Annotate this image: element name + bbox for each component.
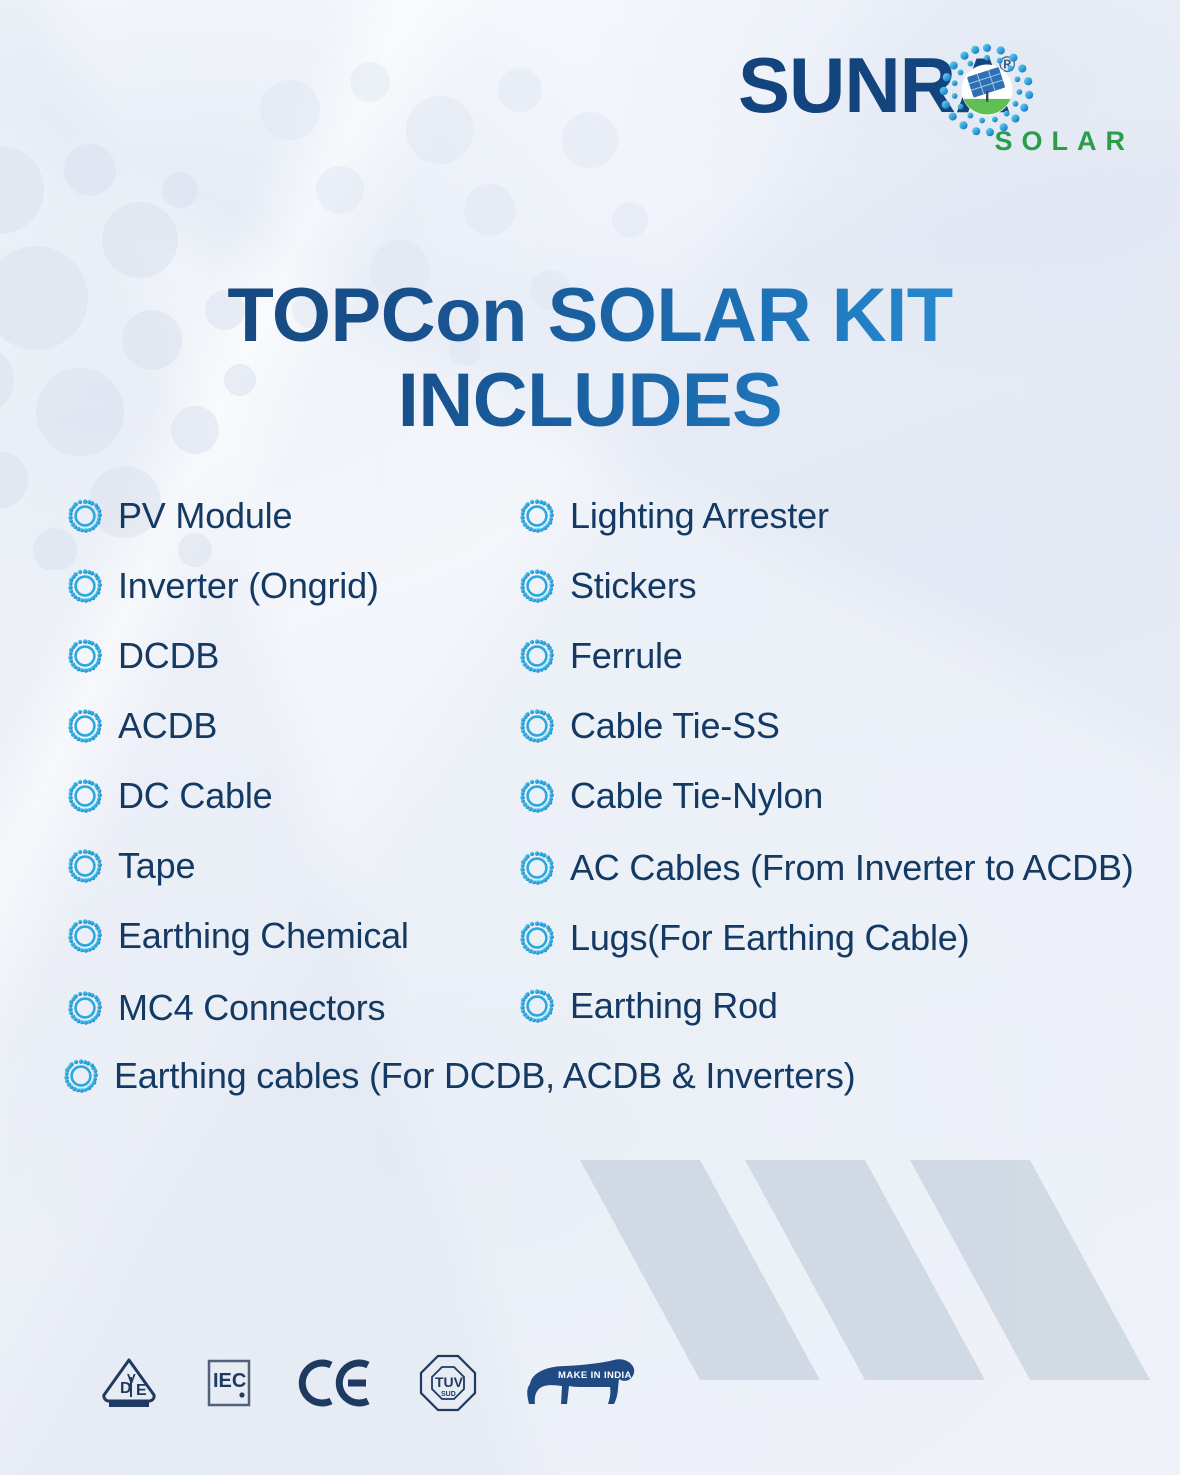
certification-badges: D V E IEC TUV SUD MAKE IN INDIA — [98, 1353, 640, 1413]
page-title: TOPCon SOLAR KIT INCLUDES — [0, 273, 1180, 443]
dotted-ring-icon — [68, 569, 102, 603]
dotted-ring-icon — [68, 779, 102, 813]
page-title-line2: INCLUDES — [0, 358, 1180, 443]
page-title-line1: TOPCon SOLAR KIT — [227, 273, 952, 358]
list-item-label: DCDB — [118, 635, 219, 677]
list-item-label: MC4 Connectors — [118, 987, 385, 1029]
dotted-ring-icon — [68, 709, 102, 743]
iec-badge-icon[interactable]: IEC — [204, 1355, 254, 1411]
list-item-label: Cable Tie-Nylon — [570, 775, 823, 817]
list-item-label: Earthing cables (For DCDB, ACDB & Invert… — [114, 1055, 855, 1097]
svg-text:IEC: IEC — [213, 1370, 246, 1392]
list-item[interactable]: ACDB — [68, 705, 217, 747]
svg-text:E: E — [136, 1382, 147, 1399]
list-item-label: AC Cables (From Inverter to ACDB) — [570, 847, 1134, 889]
kit-contents-list: PV Module Inverter (Ongrid) DCDB ACDB DC… — [0, 487, 1180, 1107]
make-in-india-lion-icon[interactable]: MAKE IN INDIA — [522, 1354, 640, 1412]
dotted-ring-icon — [520, 989, 554, 1023]
list-item[interactable]: Cable Tie-SS — [520, 705, 780, 747]
list-item[interactable]: Lighting Arrester — [520, 495, 829, 537]
list-item-label: Tape — [118, 845, 195, 887]
list-item[interactable]: DCDB — [68, 635, 219, 677]
list-item-label: Lugs(For Earthing Cable) — [570, 917, 969, 959]
list-item[interactable]: PV Module — [68, 495, 292, 537]
dotted-ring-icon — [520, 639, 554, 673]
list-item-label: Cable Tie-SS — [570, 705, 780, 747]
dotted-ring-icon — [520, 779, 554, 813]
dotted-ring-icon — [68, 919, 102, 953]
svg-text:SUD: SUD — [441, 1391, 456, 1398]
dotted-ring-icon — [520, 499, 554, 533]
list-item-label: Ferrule — [570, 635, 683, 677]
list-item-label: Earthing Chemical — [118, 915, 409, 957]
list-item-label: Inverter (Ongrid) — [118, 565, 379, 607]
tuv-sud-badge-icon[interactable]: TUV SUD — [418, 1353, 478, 1413]
chevron-stripes-decoration — [560, 1160, 1180, 1380]
list-item[interactable]: MC4 Connectors — [68, 987, 385, 1029]
brand-logo[interactable]: SUNRA® — [738, 30, 1138, 160]
vde-badge-icon[interactable]: D V E — [98, 1355, 160, 1411]
ce-mark-icon[interactable] — [298, 1355, 374, 1411]
dotted-ring-icon — [520, 921, 554, 955]
dotted-ring-icon — [68, 991, 102, 1025]
list-item[interactable]: Earthing cables (For DCDB, ACDB & Invert… — [64, 1055, 855, 1097]
list-item-label: Stickers — [570, 565, 696, 607]
list-item[interactable]: DC Cable — [68, 775, 272, 817]
make-in-india-label: MAKE IN INDIA — [558, 1370, 632, 1381]
poster-canvas: SUNRA® — [0, 0, 1180, 1475]
list-item[interactable]: AC Cables (From Inverter to ACDB) — [520, 847, 1134, 889]
dotted-ring-icon — [68, 639, 102, 673]
list-item-label: Earthing Rod — [570, 985, 778, 1027]
dotted-ring-icon — [520, 709, 554, 743]
dotted-ring-icon — [520, 851, 554, 885]
svg-text:TUV: TUV — [435, 1374, 464, 1390]
list-item-label: ACDB — [118, 705, 217, 747]
list-item[interactable]: Stickers — [520, 565, 696, 607]
list-item-label: Lighting Arrester — [570, 495, 829, 537]
list-item-label: PV Module — [118, 495, 292, 537]
list-item[interactable]: Lugs(For Earthing Cable) — [520, 917, 969, 959]
list-item[interactable]: Earthing Rod — [520, 985, 778, 1027]
dotted-ring-icon — [68, 849, 102, 883]
dotted-ring-icon — [64, 1059, 98, 1093]
list-item[interactable]: Tape — [68, 845, 195, 887]
brand-tagline: SOLAR — [995, 126, 1135, 157]
list-item-label: DC Cable — [118, 775, 272, 817]
dotted-ring-icon — [520, 569, 554, 603]
list-item[interactable]: Ferrule — [520, 635, 683, 677]
list-item[interactable]: Inverter (Ongrid) — [68, 565, 379, 607]
dotted-ring-icon — [68, 499, 102, 533]
list-item[interactable]: Earthing Chemical — [68, 915, 409, 957]
list-item[interactable]: Cable Tie-Nylon — [520, 775, 823, 817]
